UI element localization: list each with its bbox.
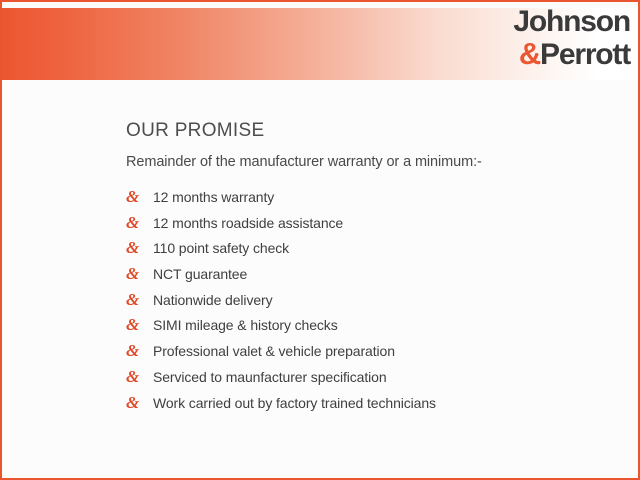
- ampersand-bullet-icon: &: [126, 368, 153, 385]
- list-item: & 12 months warranty: [126, 188, 606, 214]
- list-item: & NCT guarantee: [126, 265, 606, 291]
- ampersand-bullet-icon: &: [126, 265, 153, 282]
- ampersand-bullet-icon: &: [126, 188, 153, 205]
- list-item-label: 12 months warranty: [153, 189, 274, 206]
- promise-list: & 12 months warranty & 12 months roadsid…: [126, 188, 606, 419]
- list-item: & Work carried out by factory trained te…: [126, 394, 606, 420]
- logo-word-perrott: &Perrott: [470, 38, 630, 70]
- logo-word-johnson: Johnson: [470, 7, 630, 37]
- list-item-label: 110 point safety check: [153, 240, 289, 257]
- content-area: OUR PROMISE Remainder of the manufacture…: [126, 120, 606, 419]
- list-item: & SIMI mileage & history checks: [126, 316, 606, 342]
- list-item-label: Nationwide delivery: [153, 292, 273, 309]
- page-title: OUR PROMISE: [126, 120, 606, 142]
- ampersand-bullet-icon: &: [126, 316, 153, 333]
- ampersand-bullet-icon: &: [126, 239, 153, 256]
- ampersand-bullet-icon: &: [126, 214, 153, 231]
- ampersand-bullet-icon: &: [126, 394, 153, 411]
- list-item-label: Professional valet & vehicle preparation: [153, 343, 395, 360]
- logo-perrott-text: Perrott: [540, 38, 630, 71]
- list-item-label: SIMI mileage & history checks: [153, 317, 338, 334]
- list-item: & 110 point safety check: [126, 239, 606, 265]
- brand-logo: Johnson &Perrott: [470, 6, 630, 72]
- list-item: & Professional valet & vehicle preparati…: [126, 342, 606, 368]
- promise-card: Johnson &Perrott OUR PROMISE Remainder o…: [0, 0, 640, 480]
- subtitle-text: Remainder of the manufacturer warranty o…: [126, 153, 606, 171]
- list-item-label: 12 months roadside assistance: [153, 215, 343, 232]
- list-item-label: Serviced to maunfacturer specification: [153, 369, 387, 386]
- logo-ampersand-icon: &: [519, 36, 540, 71]
- list-item: & Nationwide delivery: [126, 291, 606, 317]
- list-item: & 12 months roadside assistance: [126, 214, 606, 240]
- ampersand-bullet-icon: &: [126, 291, 153, 308]
- list-item: & Serviced to maunfacturer specification: [126, 368, 606, 394]
- list-item-label: Work carried out by factory trained tech…: [153, 395, 436, 412]
- list-item-label: NCT guarantee: [153, 266, 247, 283]
- ampersand-bullet-icon: &: [126, 342, 153, 359]
